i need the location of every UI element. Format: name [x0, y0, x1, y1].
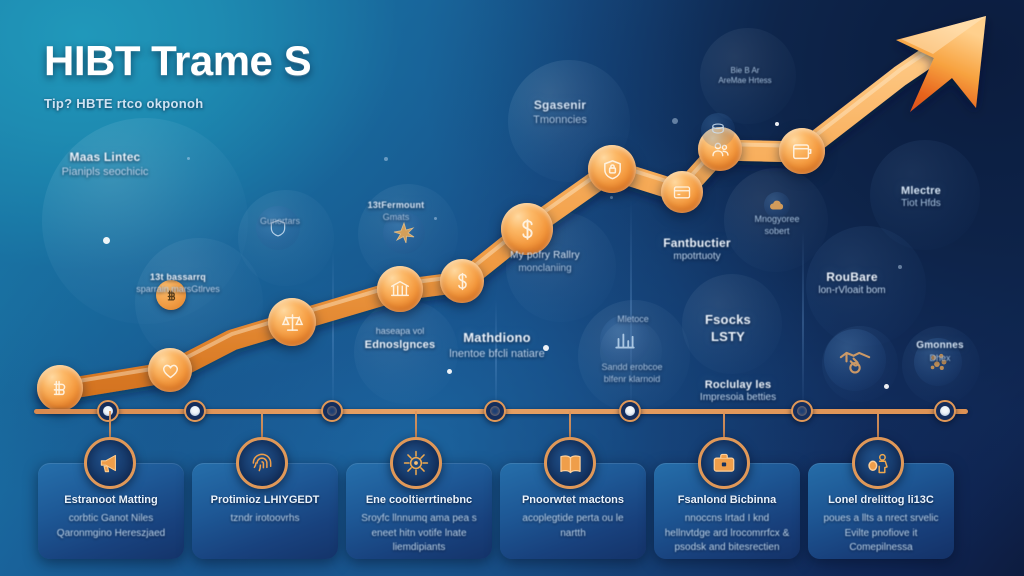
floating-label: My pofry Rallry monclaniing	[470, 250, 620, 276]
floating-label: Roclulay les Impresoia betties	[658, 378, 818, 405]
particle	[672, 118, 678, 124]
floating-chip-shield	[256, 206, 300, 250]
particle	[434, 217, 437, 220]
particle	[103, 237, 110, 244]
particle	[447, 369, 452, 374]
arrow-head-icon	[896, 16, 986, 112]
ambient-bubble	[682, 274, 782, 374]
card-body: Sroyfc llnnumq ama pea s eneet hitn voti…	[356, 512, 482, 556]
coins-icon	[709, 121, 727, 139]
wallet-icon	[791, 140, 813, 162]
card-heading: Ene cooltierrtinebnc	[356, 493, 482, 507]
floating-label-body: AreMae Hrtess	[685, 76, 805, 86]
guide-line	[802, 230, 804, 415]
particle	[884, 384, 889, 389]
particle	[384, 157, 388, 161]
guide-line	[630, 200, 632, 415]
marker-dot	[625, 406, 635, 416]
marker-dot	[940, 406, 950, 416]
briefcase-icon	[711, 450, 737, 476]
floating-label-heading: Fsocks	[673, 312, 783, 329]
heart-hand-icon	[160, 360, 181, 381]
floating-label-body: monclaniing	[470, 263, 620, 276]
card-badge-virus-gear[interactable]	[390, 437, 442, 489]
floating-chip-chart-bars	[600, 315, 650, 365]
floating-label-heading: Fantbuctier	[627, 236, 767, 251]
floating-label-body: LSTY	[673, 329, 783, 346]
floating-label: Mathdiono lnentoe bfcli natiare	[427, 330, 567, 361]
floating-label-body: Tiot Hfds	[861, 198, 981, 211]
card-heading: Pnoorwtet mactons	[510, 493, 636, 507]
shield-lock-icon	[601, 158, 624, 181]
floating-label-heading: Maas Lintec	[35, 150, 175, 165]
card-body: poues a llts a nrect srvelic Evilte pnof…	[818, 512, 944, 556]
guide-line	[495, 300, 497, 415]
particle	[187, 157, 190, 160]
cloud-icon	[768, 196, 786, 214]
infographic-canvas: HIBT Trame S Tip? HBTE rtco okponoh	[0, 0, 1024, 576]
marker-dot	[797, 406, 807, 416]
card-body: tzndr irotoovrhs	[202, 512, 328, 527]
timeline-marker[interactable]	[321, 400, 343, 422]
floating-label-heading: Bie B Ar	[685, 66, 805, 76]
floating-label-body: Pianipls seochicic	[35, 165, 175, 179]
chart-node-card[interactable]	[661, 171, 703, 213]
floating-label: Sgasenir Tmonncies	[490, 98, 630, 127]
star-burst-icon	[392, 221, 416, 245]
card-badge-open-book[interactable]	[544, 437, 596, 489]
handshake-icon	[865, 450, 892, 477]
ambient-bubble	[870, 140, 980, 250]
card-badge-fingerprint[interactable]	[236, 437, 288, 489]
floating-label-body: sobert	[717, 226, 837, 238]
card-heading: Protimioz LHIYGEDT	[202, 493, 328, 507]
particle	[775, 122, 779, 126]
floating-label: Fantbuctier mpotrtuoty	[627, 236, 767, 264]
floating-label-heading: 13tFermount	[336, 200, 456, 212]
network-cluster-icon	[925, 349, 951, 375]
marker-dot	[327, 406, 337, 416]
chart-node-dollar-b[interactable]	[501, 203, 553, 255]
floating-label-body: lnentoe bfcli natiare	[427, 347, 567, 361]
shield-icon	[268, 218, 288, 238]
marker-dot	[103, 406, 113, 416]
dollar-icon	[515, 217, 540, 242]
card-heading: Estranoot Matting	[48, 493, 174, 507]
marker-dot	[490, 406, 500, 416]
floating-chip-starburst	[383, 212, 425, 254]
floating-label-heading: Mathdiono	[427, 330, 567, 347]
floating-label-body: mpotrtuoty	[627, 251, 767, 264]
floating-label-body: Tmonncies	[490, 113, 630, 127]
ambient-bubble	[354, 300, 458, 404]
floating-label-heading: Mlectre	[861, 184, 981, 198]
floating-label-heading: Roclulay les	[658, 378, 818, 392]
card-icon	[672, 182, 692, 202]
card-body: nnoccns Irtad I knd hellnvtdge ard lroco…	[664, 512, 790, 556]
chart-node-balance[interactable]	[268, 298, 316, 346]
ambient-bubble	[135, 238, 263, 366]
floating-chip-handshake	[824, 329, 886, 391]
chart-node-heart-hand[interactable]	[148, 348, 192, 392]
chart-node-shield[interactable]	[588, 145, 636, 193]
floating-chip-cloud	[764, 192, 790, 218]
bitcoin-icon	[49, 377, 71, 399]
timeline-marker[interactable]	[484, 400, 506, 422]
floating-label-body: Ednoslgnces	[340, 338, 460, 352]
card-heading: Lonel drelittog li13C	[818, 493, 944, 507]
virus-gear-icon	[402, 449, 430, 477]
chart-node-dollar-a[interactable]	[440, 259, 484, 303]
bitcoin-icon	[164, 288, 179, 303]
floating-label-heading: My pofry Rallry	[470, 250, 620, 263]
floating-chip-bitcoin	[156, 280, 186, 310]
marker-dot	[190, 406, 200, 416]
ambient-bubble	[42, 118, 248, 324]
card-body: acoplegtide perta ou le nartth	[510, 512, 636, 541]
floating-label-heading: haseapa vol	[340, 326, 460, 338]
floating-label: haseapa vol Ednoslgnces	[340, 326, 460, 352]
open-book-icon	[557, 450, 584, 477]
ambient-bubble	[806, 226, 926, 346]
timeline-marker[interactable]	[934, 400, 956, 422]
guide-line	[332, 250, 334, 415]
page-subtitle: Tip? HBTE rtco okponoh	[44, 96, 311, 111]
timeline-marker[interactable]	[97, 400, 119, 422]
card-body: corbtic Ganot Niles Qaronmgino Hereszjae…	[48, 512, 174, 541]
floating-label: Mlectre Tiot Hfds	[861, 184, 981, 211]
ambient-bubble	[700, 28, 796, 124]
megaphone-icon	[97, 450, 123, 476]
timeline-marker[interactable]	[791, 400, 813, 422]
title-block: HIBT Trame S Tip? HBTE rtco okponoh	[44, 40, 311, 111]
timeline-marker[interactable]	[619, 400, 641, 422]
dollar-icon	[452, 271, 473, 292]
ambient-bubble	[724, 168, 828, 272]
chart-node-bank[interactable]	[377, 266, 423, 312]
chart-bars-icon	[612, 327, 638, 353]
page-title: HIBT Trame S	[44, 40, 311, 82]
particle	[610, 196, 613, 199]
floating-label: Fsocks LSTY	[673, 312, 783, 345]
bank-icon	[389, 278, 411, 300]
particle	[228, 332, 231, 335]
particle	[898, 265, 902, 269]
floating-label: Bie B Ar AreMae Hrtess	[685, 66, 805, 86]
chart-node-wallet[interactable]	[779, 128, 825, 174]
floating-chip-network	[914, 338, 962, 386]
chart-node-bitcoin[interactable]	[37, 365, 83, 411]
card-badge-megaphone[interactable]	[84, 437, 136, 489]
fingerprint-icon	[249, 450, 275, 476]
timeline-marker[interactable]	[184, 400, 206, 422]
floating-label-heading: Sgasenir	[490, 98, 630, 113]
card-badge-handshake[interactable]	[852, 437, 904, 489]
handshake-deal-icon	[838, 343, 872, 377]
floating-label: Sandd erobcoe blfenr klarnoid	[577, 362, 687, 385]
card-badge-briefcase[interactable]	[698, 437, 750, 489]
balance-scale-icon	[281, 311, 304, 334]
floating-label: Maas Lintec Pianipls seochicic	[35, 150, 175, 179]
card-heading: Fsanlond Bicbinna	[664, 493, 790, 507]
particle	[543, 345, 549, 351]
floating-chip-coins	[701, 113, 735, 147]
floating-label-body: blfenr klarnoid	[577, 374, 687, 386]
